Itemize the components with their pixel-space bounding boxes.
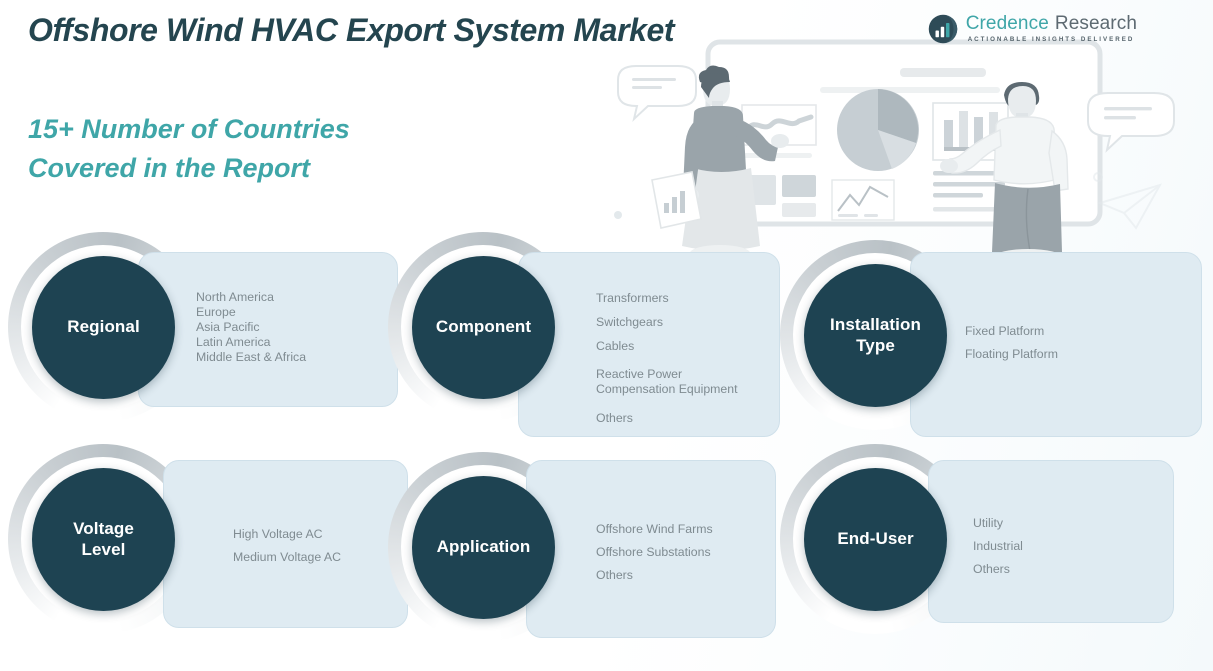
speech-bubble-icon: [618, 66, 696, 119]
list-item: Others: [596, 564, 713, 587]
item-list-installation-type: Fixed Platform Floating Platform: [965, 320, 1058, 366]
panel-end-user: [928, 460, 1174, 623]
list-item: Asia Pacific: [196, 320, 306, 335]
list-item: Others: [973, 558, 1023, 581]
bubble-application[interactable]: Application: [412, 476, 555, 619]
logo-brand-primary: Credence: [966, 14, 1049, 33]
subtitle-line-2: Covered in the Report: [28, 149, 350, 188]
bubble-regional[interactable]: Regional: [32, 256, 175, 399]
logo-tagline: Actionable Insights Delivered: [968, 37, 1137, 43]
list-item: Offshore Substations: [596, 541, 713, 564]
card-regional[interactable]: Regional North America Europe Asia Pacif…: [8, 232, 398, 424]
bubble-label-installation-type: Installation Type: [824, 315, 927, 356]
paper-chart-icon: [652, 172, 701, 228]
item-list-component: Transformers Switchgears Cables Reactive…: [596, 286, 738, 430]
item-list-application: Offshore Wind Farms Offshore Substations…: [596, 518, 713, 587]
bar-chart-icon: [933, 103, 1008, 160]
pie-chart-icon: [837, 89, 919, 171]
item-list-regional: North America Europe Asia Pacific Latin …: [196, 290, 306, 365]
logo-text-group: Credence Research Actionable Insights De…: [966, 14, 1137, 43]
bubble-label-component: Component: [430, 317, 537, 337]
item-list-end-user: Utility Industrial Others: [973, 512, 1023, 581]
list-item-line1: Reactive Power: [596, 367, 738, 382]
list-item: Middle East & Africa: [196, 350, 306, 365]
card-component[interactable]: Component Transformers Switchgears Cable…: [388, 232, 778, 424]
list-item: Industrial: [973, 535, 1023, 558]
paper-plane-icon: [1094, 173, 1160, 228]
list-item: Switchgears: [596, 310, 738, 334]
bubble-label-voltage-level: Voltage Level: [67, 519, 140, 560]
list-item: Fixed Platform: [965, 320, 1058, 343]
subtitle: 15+ Number of Countries Covered in the R…: [28, 110, 350, 188]
card-installation-type[interactable]: Installation Type Fixed Platform Floatin…: [780, 232, 1205, 424]
list-item: Utility: [973, 512, 1023, 535]
infographic-canvas: Regional North America Europe Asia Pacif…: [0, 0, 1213, 671]
line-chart-icon: [742, 105, 816, 145]
brand-logo[interactable]: Credence Research Actionable Insights De…: [928, 14, 1137, 44]
card-application[interactable]: Application Offshore Wind Farms Offshore…: [388, 444, 778, 636]
list-item: Europe: [196, 305, 306, 320]
bubble-voltage-level[interactable]: Voltage Level: [32, 468, 175, 611]
line-chart-thumb-icon: [832, 180, 894, 220]
bubble-label-end-user: End-User: [831, 529, 919, 549]
list-item: Latin America: [196, 335, 306, 350]
page-title: Offshore Wind HVAC Export System Market: [28, 12, 674, 49]
speech-bubble-right-icon: [1088, 93, 1174, 150]
logo-wordmark: Credence Research: [966, 14, 1137, 33]
list-item: Others: [596, 406, 738, 430]
bubble-label-regional: Regional: [61, 317, 146, 337]
logo-brand-secondary: Research: [1055, 14, 1137, 33]
list-item-line2: Compensation Equipment: [596, 382, 738, 397]
list-item: Cables: [596, 334, 738, 358]
list-item: High Voltage AC: [233, 523, 341, 546]
dot-decoration-icon: [614, 211, 622, 219]
card-end-user[interactable]: End-User Utility Industrial Others: [780, 444, 1205, 636]
list-item: North America: [196, 290, 306, 305]
bubble-label-application: Application: [431, 537, 537, 557]
item-list-voltage-level: High Voltage AC Medium Voltage AC: [233, 523, 341, 569]
bar-chart-circle-icon: [928, 14, 958, 44]
list-item: Reactive Power Compensation Equipment: [596, 367, 738, 397]
bubble-installation-type[interactable]: Installation Type: [804, 264, 947, 407]
card-voltage-level[interactable]: Voltage Level High Voltage AC Medium Vol…: [8, 444, 398, 636]
list-item: Floating Platform: [965, 343, 1058, 366]
bubble-component[interactable]: Component: [412, 256, 555, 399]
list-item: Transformers: [596, 286, 738, 310]
whiteboard-icon: [708, 42, 1100, 224]
subtitle-line-1: 15+ Number of Countries: [28, 110, 350, 149]
bubble-end-user[interactable]: End-User: [804, 468, 947, 611]
list-item: Medium Voltage AC: [233, 546, 341, 569]
list-item: Offshore Wind Farms: [596, 518, 713, 541]
